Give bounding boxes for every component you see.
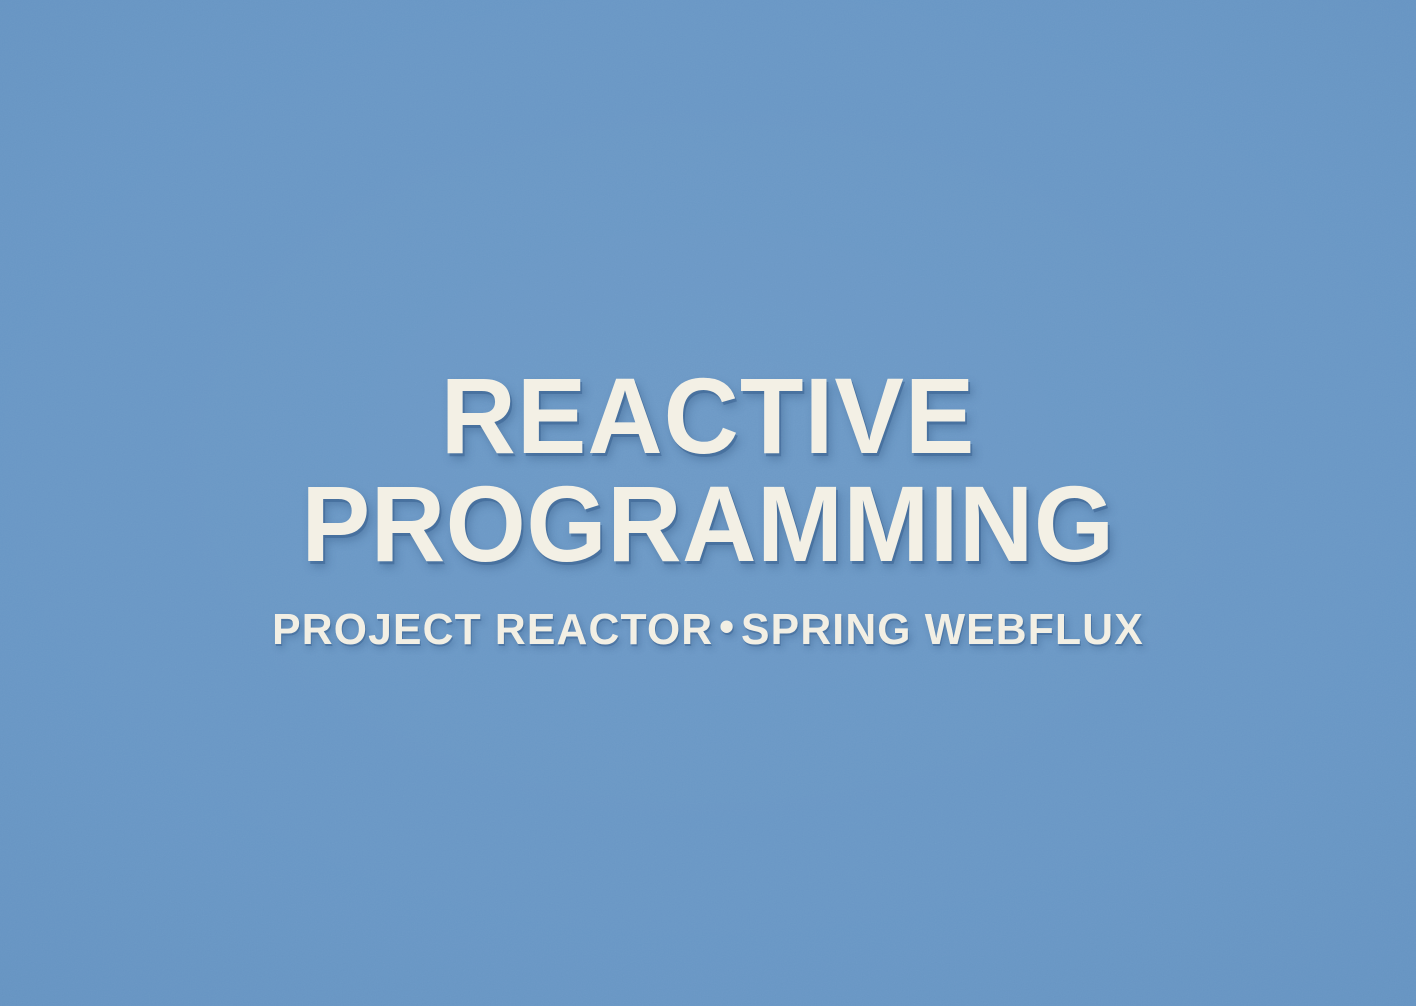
headline-line-2: PROGRAMMING <box>32 470 1384 578</box>
title-slide: REACTIVE PROGRAMMING PROJECT REACTOR•SPR… <box>0 0 1416 1006</box>
bullet-separator-icon: • <box>713 605 741 649</box>
subtitle-right-text: SPRING WEBFLUX <box>741 605 1144 654</box>
headline-line-1: REACTIVE <box>25 362 1391 470</box>
subtitle: PROJECT REACTOR•SPRING WEBFLUX <box>21 608 1395 652</box>
subtitle-left-text: PROJECT REACTOR <box>272 605 713 654</box>
